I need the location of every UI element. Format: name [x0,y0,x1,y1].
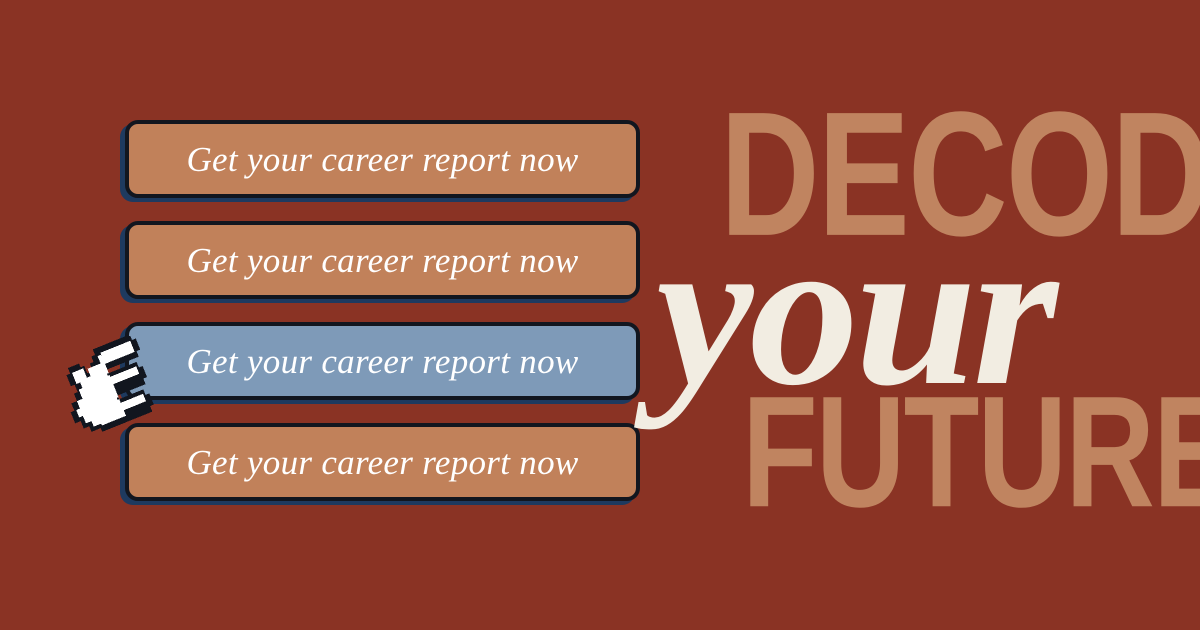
cta-button-label: Get your career report now [186,243,578,278]
cta-button-2[interactable]: Get your career report now [125,221,640,299]
cta-button-label: Get your career report now [186,445,578,480]
poster-canvas: Get your career report now Get your care… [0,0,1200,630]
cta-button-row-1: Get your career report now [125,120,640,198]
cta-button-label: Get your career report now [186,344,578,379]
cta-button-row-4: Get your career report now [125,423,640,501]
cta-button-row-2: Get your career report now [125,221,640,299]
cta-button-3-active[interactable]: Get your career report now [125,322,640,400]
headline-line-your: your [656,203,1054,418]
cta-button-1[interactable]: Get your career report now [125,120,640,198]
cta-button-stack: Get your career report now Get your care… [125,120,640,524]
headline-lockup: DECODE FUTURE your [650,85,1190,525]
cta-button-label: Get your career report now [186,142,578,177]
cta-button-row-3: Get your career report now [125,322,640,400]
cta-button-4[interactable]: Get your career report now [125,423,640,501]
